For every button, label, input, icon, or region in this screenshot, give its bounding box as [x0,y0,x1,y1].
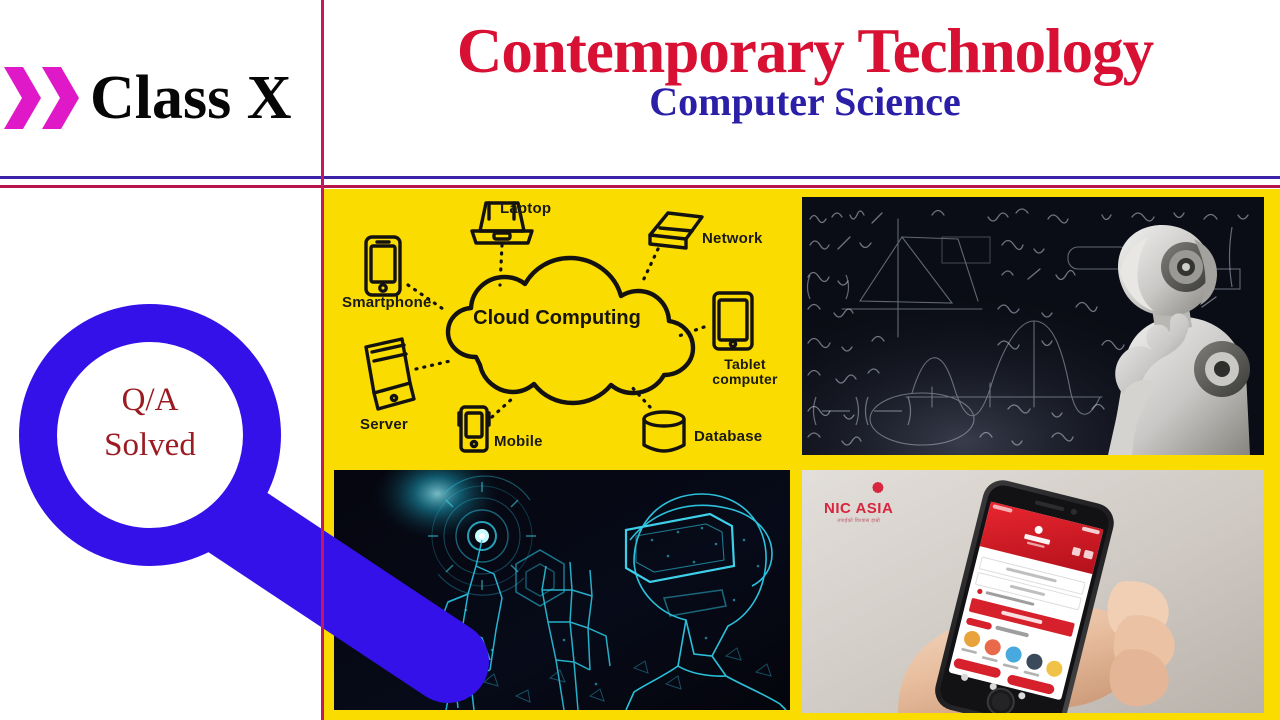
divider-red [0,185,1280,188]
nic-asia-logo-name: NIC ASIA [824,500,893,517]
header: Class X Contemporary Technology Computer… [0,0,1280,178]
cloud-label-network: Network [702,231,763,247]
magnifier-handle [222,512,448,662]
title-block: Contemporary Technology Computer Science [330,18,1280,173]
magnifier-line-1: Q/A [38,378,262,423]
tile-artificial-intelligence [802,197,1264,455]
class-label: Class X [90,67,292,129]
tile-mobile-banking: NIC ASIA तपाईको विश्वास हाम्रो [802,470,1264,713]
divider-vertical [321,0,324,720]
page-title: Contemporary Technology [330,18,1280,84]
magnifier-line-2: Solved [38,423,262,468]
nic-asia-logo: NIC ASIA तपाईको विश्वास हाम्रो [824,484,893,524]
slide-canvas: Class X Contemporary Technology Computer… [0,0,1280,720]
cloud-label-database: Database [694,429,762,445]
magnifying-glass-icon: Q/A Solved [0,290,520,690]
class-badge: Class X [0,48,322,148]
magnifier-text: Q/A Solved [38,378,262,467]
cloud-label-laptop: Laptop [500,201,551,217]
nic-asia-logo-tagline: तपाईको विश्वास हाम्रो [824,518,893,524]
divider-blue [0,176,1280,179]
page-subtitle: Computer Science [330,80,1280,124]
double-chevron-right-icon [4,65,80,131]
cloud-label-tablet: Tablet computer [710,357,780,386]
